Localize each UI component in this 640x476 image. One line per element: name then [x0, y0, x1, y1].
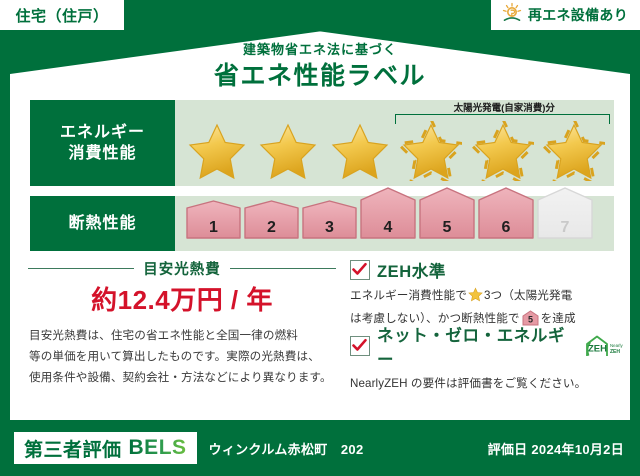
zeh-level-head: ZEH水準 [350, 258, 626, 282]
housing-type-tab: 住宅（住戸） [0, 0, 124, 30]
energy-performance-label: エネルギー 消費性能 [30, 100, 175, 186]
svg-text:Nearly: Nearly [610, 343, 623, 348]
cost-title-row: 目安光熱費 [28, 258, 336, 279]
insulation-level-active: 3 [301, 199, 358, 247]
check-icon [350, 336, 370, 356]
label-heading: 建築物省エネ法に基づく 省エネ性能ラベル [0, 42, 640, 91]
insulation-level-active: 1 [185, 199, 242, 247]
inline-star-icon [468, 292, 483, 305]
insulation-level-active: 6 [477, 186, 535, 247]
net-zero-head: ネット・ゼロ・エネルギー ZEH Nearly ZEH [350, 322, 626, 370]
property-address: ウィンクルム赤松町 202 [209, 439, 364, 458]
svg-text:ZEH: ZEH [610, 349, 620, 355]
cost-note-line1: 目安光熱費は、住宅の省エネ性能と全国一律の燃料 [29, 329, 298, 342]
renewable-equipment-label: 再エネ設備あり [528, 5, 628, 25]
insulation-level-inactive: 7 [536, 186, 594, 247]
star-solar [400, 121, 462, 181]
net-zero-description: NearlyZEH の要件は評価書をご覧ください。 [350, 374, 626, 394]
energy-label-card: 住宅（住戸） 再エネ設備あり 建築物省エネ法に基づく 省エネ性能ラベ [0, 0, 640, 476]
bels-en-text: BELS [129, 436, 187, 460]
energy-label-line2: 消費性能 [68, 143, 136, 164]
zeh-desc-part1: エネルギー消費性能で [350, 289, 467, 302]
sun-solar-icon [501, 2, 523, 29]
insulation-performance-row: 断熱性能 1234567 [30, 196, 614, 251]
energy-label-line1: エネルギー [60, 122, 145, 143]
cost-note: 目安光熱費は、住宅の省エネ性能と全国一律の燃料 等の単価を用いて算出したものです… [29, 325, 335, 388]
cost-rule-right [230, 268, 336, 270]
bels-logo: 第三者評価 BELS [14, 432, 197, 464]
insulation-label-text: 断熱性能 [68, 213, 136, 234]
zeh-level-title: ZEH水準 [377, 258, 446, 282]
zeh-desc-star-count: 3つ（太陽光発電 [484, 289, 572, 302]
insulation-level-number: 7 [561, 219, 570, 236]
insulation-performance-label: 断熱性能 [30, 196, 175, 251]
cost-title: 目安光熱費 [134, 258, 230, 279]
insulation-level-active: 4 [359, 186, 417, 247]
insulation-level-number: 4 [384, 219, 393, 236]
insulation-level-active: 5 [418, 186, 476, 247]
insulation-level-active: 2 [243, 199, 300, 247]
cost-rule-left [28, 268, 134, 270]
cost-note-line3: 使用条件や設備、契約会社・方法などにより異なります。 [29, 371, 332, 384]
check-icon [350, 260, 370, 280]
cost-value: 約12.4万円 / 年 [28, 280, 336, 317]
insulation-level-scale: 1234567 [185, 196, 604, 251]
energy-performance-content: 太陽光発電(自家消費)分 [175, 100, 614, 186]
star-solar [543, 121, 605, 181]
bels-jp-text: 第三者評価 [24, 435, 122, 462]
zeh-logo-icon: ZEH Nearly ZEH [584, 334, 626, 358]
insulation-level-number: 3 [325, 219, 334, 236]
heading-title: 省エネ性能ラベル [0, 61, 640, 91]
solar-bracket-label: 太陽光発電(自家消費)分 [395, 100, 615, 114]
insulation-level-number: 1 [209, 219, 218, 236]
star-rating [181, 118, 610, 183]
evaluation-date: 評価日 2024年10月2日 [488, 439, 624, 458]
net-zero-title: ネット・ゼロ・エネルギー [377, 322, 578, 370]
renewable-equipment-badge: 再エネ設備あり [491, 0, 640, 30]
insulation-performance-content: 1234567 [175, 196, 614, 251]
cost-note-line2: 等の単価を用いて算出したものです。実際の光熱費は、 [29, 350, 320, 363]
footer-bar: 第三者評価 BELS ウィンクルム赤松町 202 評価日 2024年10月2日 [0, 420, 640, 476]
heading-subtitle: 建築物省エネ法に基づく [0, 42, 640, 58]
star-filled [186, 121, 248, 181]
star-solar [472, 121, 534, 181]
energy-performance-row: エネルギー 消費性能 太陽光発電(自家消費)分 [30, 100, 614, 186]
insulation-level-number: 6 [502, 219, 511, 236]
star-filled [329, 121, 391, 181]
star-filled [257, 121, 319, 181]
svg-text:ZEH: ZEH [588, 344, 607, 355]
housing-type-label: 住宅（住戸） [15, 5, 108, 26]
insulation-level-number: 2 [267, 219, 276, 236]
insulation-level-number: 5 [443, 219, 452, 236]
net-zero-energy-block: ネット・ゼロ・エネルギー ZEH Nearly ZEH NearlyZEH の要… [350, 322, 626, 394]
